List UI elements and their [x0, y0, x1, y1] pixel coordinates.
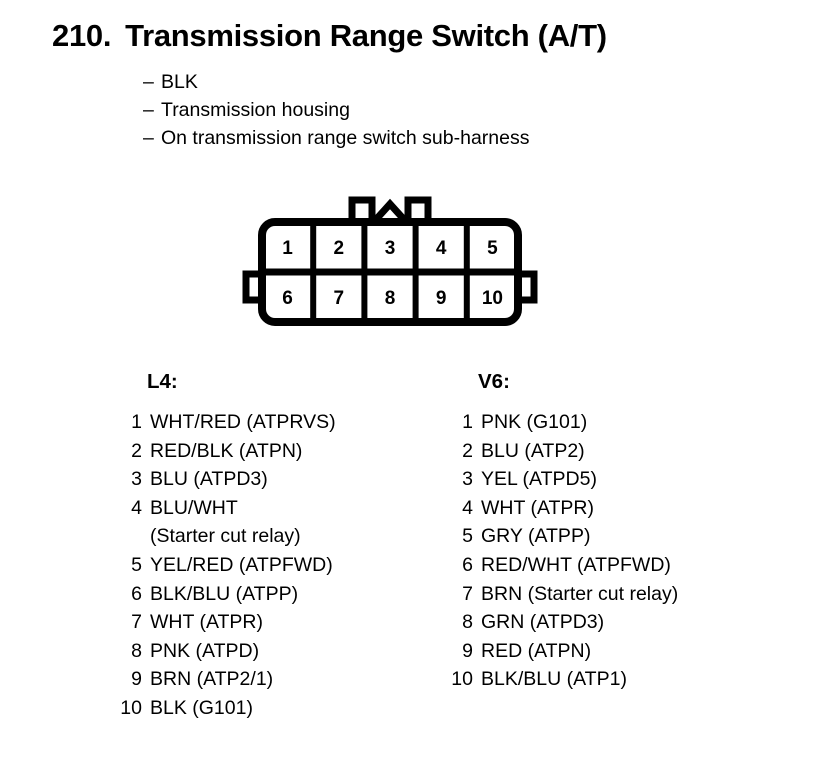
pin-row: 9RED (ATPN)	[447, 640, 678, 669]
page-title-number: 210.	[52, 18, 111, 53]
pin-description: YEL (ATPD5)	[481, 468, 597, 491]
pin-description: WHT/RED (ATPRVS)	[150, 411, 336, 434]
spec-dash-icon: –	[143, 124, 161, 152]
pin-number: 9	[447, 640, 473, 663]
connector-pin-6: 6	[282, 288, 293, 309]
connector-pin-3: 3	[385, 238, 396, 259]
pin-number: 2	[116, 440, 142, 463]
pin-row: 1PNK (G101)	[447, 411, 678, 440]
pin-row: 6BLK/BLU (ATPP)	[116, 583, 336, 612]
pin-number: 3	[116, 468, 142, 491]
pin-description: RED/WHT (ATPFWD)	[481, 554, 671, 577]
pin-row: 8GRN (ATPD3)	[447, 611, 678, 640]
spec-dash-icon: –	[143, 68, 161, 96]
pin-row: (Starter cut relay)	[116, 525, 336, 554]
pin-description: RED (ATPN)	[481, 640, 591, 663]
page-title: 210.Transmission Range Switch (A/T)	[52, 18, 607, 54]
connector-pin-7: 7	[334, 288, 345, 309]
pin-number: 10	[116, 697, 142, 720]
pin-table-v6: V6: 1PNK (G101)2BLU (ATP2)3YEL (ATPD5)4W…	[447, 370, 678, 697]
connector-pin-8: 8	[385, 288, 396, 309]
pin-row: 5YEL/RED (ATPFWD)	[116, 554, 336, 583]
spec-list-item: –On transmission range switch sub-harnes…	[143, 124, 530, 152]
connector-diagram: 12345 678910	[240, 196, 540, 328]
pin-description: BLU (ATPD3)	[150, 468, 268, 491]
pin-row: 3YEL (ATPD5)	[447, 468, 678, 497]
spec-list-item-label: On transmission range switch sub-harness	[161, 127, 530, 149]
pin-row: 5GRY (ATPP)	[447, 525, 678, 554]
connector-pin-5: 5	[487, 238, 498, 259]
pin-row: 2BLU (ATP2)	[447, 440, 678, 469]
pin-number: 1	[447, 411, 473, 434]
pin-row: 1WHT/RED (ATPRVS)	[116, 411, 336, 440]
spec-list-item-label: BLK	[161, 71, 198, 93]
pin-row: 9BRN (ATP2/1)	[116, 668, 336, 697]
pin-row: 4BLU/WHT	[116, 497, 336, 526]
connector-pin-10: 10	[482, 288, 503, 309]
pin-table-l4-heading: L4:	[147, 370, 336, 394]
pin-row: 4WHT (ATPR)	[447, 497, 678, 526]
connector-pin-4: 4	[436, 238, 447, 259]
pin-number: 8	[447, 611, 473, 634]
pin-row: 2RED/BLK (ATPN)	[116, 440, 336, 469]
spec-list: –BLK–Transmission housing–On transmissio…	[143, 68, 530, 152]
pin-description: BLK/BLU (ATP1)	[481, 668, 627, 691]
spec-dash-icon: –	[143, 96, 161, 124]
pin-description: GRY (ATPP)	[481, 525, 590, 548]
pin-table-v6-rows: 1PNK (G101)2BLU (ATP2)3YEL (ATPD5)4WHT (…	[447, 411, 678, 697]
pin-number: 3	[447, 468, 473, 491]
pin-description: BRN (Starter cut relay)	[481, 583, 678, 606]
pin-number: 4	[447, 497, 473, 520]
connector-pin-1: 1	[282, 238, 293, 259]
pin-description: GRN (ATPD3)	[481, 611, 604, 634]
pin-number: 5	[116, 554, 142, 577]
pin-description: BRN (ATP2/1)	[150, 668, 273, 691]
pin-description: BLU (ATP2)	[481, 440, 585, 463]
pin-table-l4: L4: 1WHT/RED (ATPRVS)2RED/BLK (ATPN)3BLU…	[116, 370, 336, 726]
connector-pin-2: 2	[334, 238, 345, 259]
pin-row: 10BLK (G101)	[116, 697, 336, 726]
pin-description: YEL/RED (ATPFWD)	[150, 554, 333, 577]
pin-description: (Starter cut relay)	[150, 525, 301, 548]
pin-row: 3BLU (ATPD3)	[116, 468, 336, 497]
pin-row: 10BLK/BLU (ATP1)	[447, 668, 678, 697]
pin-description: PNK (ATPD)	[150, 640, 259, 663]
pin-number: 6	[447, 554, 473, 577]
spec-list-item: –Transmission housing	[143, 96, 530, 124]
pin-number: 1	[116, 411, 142, 434]
page-title-text: Transmission Range Switch (A/T)	[125, 18, 607, 53]
pin-number: 7	[116, 611, 142, 634]
pin-row: 8PNK (ATPD)	[116, 640, 336, 669]
pin-number: 6	[116, 583, 142, 606]
pin-table-l4-rows: 1WHT/RED (ATPRVS)2RED/BLK (ATPN)3BLU (AT…	[116, 411, 336, 726]
pin-description: RED/BLK (ATPN)	[150, 440, 302, 463]
pin-description: BLK (G101)	[150, 697, 253, 720]
connector-pin-9: 9	[436, 288, 447, 309]
pin-number: 7	[447, 583, 473, 606]
pin-number: 5	[447, 525, 473, 548]
pin-row: 7BRN (Starter cut relay)	[447, 583, 678, 612]
pin-description: PNK (G101)	[481, 411, 587, 434]
pin-number: 2	[447, 440, 473, 463]
pin-description: BLU/WHT	[150, 497, 238, 520]
pin-description: WHT (ATPR)	[481, 497, 594, 520]
pin-row: 6RED/WHT (ATPFWD)	[447, 554, 678, 583]
pin-description: WHT (ATPR)	[150, 611, 263, 634]
pin-number: 9	[116, 668, 142, 691]
spec-list-item: –BLK	[143, 68, 530, 96]
pin-number: 8	[116, 640, 142, 663]
pin-number: 4	[116, 497, 142, 520]
pin-number: 10	[447, 668, 473, 691]
pin-row: 7WHT (ATPR)	[116, 611, 336, 640]
spec-list-item-label: Transmission housing	[161, 99, 350, 121]
pin-description: BLK/BLU (ATPP)	[150, 583, 298, 606]
pin-table-v6-heading: V6:	[478, 370, 678, 394]
